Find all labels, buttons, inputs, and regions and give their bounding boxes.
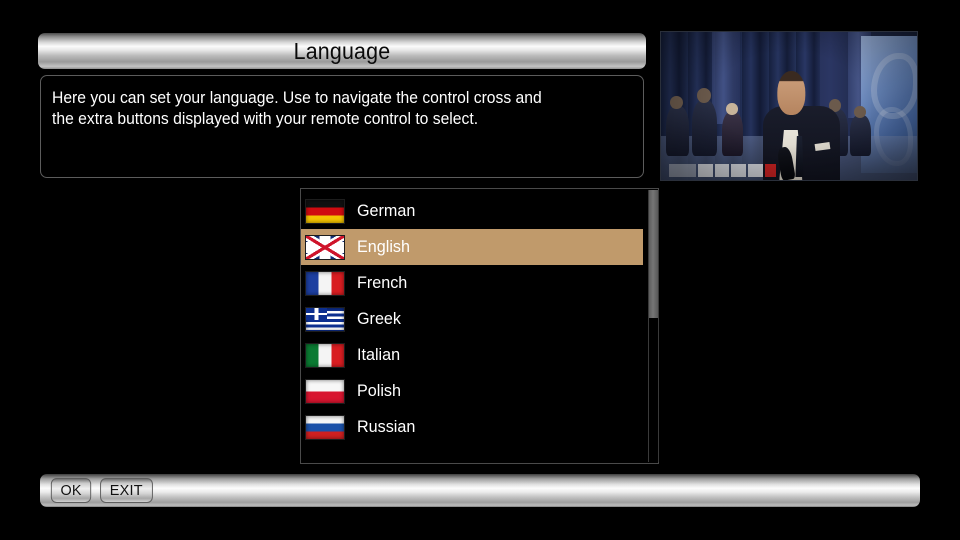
language-label: German: [357, 201, 415, 221]
video-vignette: [661, 32, 917, 180]
flag-poland-icon: [305, 379, 345, 404]
video-preview[interactable]: [660, 31, 918, 181]
list-item-polish[interactable]: Polish: [301, 373, 643, 409]
flag-united-kingdom-icon: [305, 235, 345, 260]
flag-germany-icon: [305, 199, 345, 224]
language-label: Polish: [357, 381, 401, 401]
language-label: French: [357, 273, 407, 293]
help-text: Here you can set your language. Use to n…: [52, 88, 603, 130]
list-scrollbar[interactable]: [648, 190, 659, 462]
list-item-italian[interactable]: Italian: [301, 337, 643, 373]
tv-settings-screen: Language Here you can set your language.…: [0, 0, 960, 540]
language-label: English: [357, 237, 410, 257]
language-list: German English French Greek Italian Poli: [301, 193, 643, 445]
flag-italy-icon: [305, 343, 345, 368]
language-list-panel[interactable]: German English French Greek Italian Poli: [300, 188, 659, 464]
flag-russia-icon: [305, 415, 345, 440]
list-item-german[interactable]: German: [301, 193, 643, 229]
page-title: Language: [294, 38, 391, 65]
scrollbar-thumb[interactable]: [649, 190, 658, 318]
language-label: Italian: [357, 345, 400, 365]
footer-button-bar: OK EXIT: [40, 474, 920, 507]
language-label: Greek: [357, 309, 401, 329]
page-title-bar: Language: [38, 33, 646, 69]
exit-button[interactable]: EXIT: [100, 478, 152, 503]
list-item-french[interactable]: French: [301, 265, 643, 301]
ok-button[interactable]: OK: [51, 478, 92, 503]
language-label: Russian: [357, 417, 415, 437]
help-text-box: Here you can set your language. Use to n…: [40, 75, 644, 178]
flag-france-icon: [305, 271, 345, 296]
list-item-russian[interactable]: Russian: [301, 409, 643, 445]
flag-greece-icon: [305, 307, 345, 332]
list-item-english[interactable]: English: [301, 229, 643, 265]
list-item-greek[interactable]: Greek: [301, 301, 643, 337]
